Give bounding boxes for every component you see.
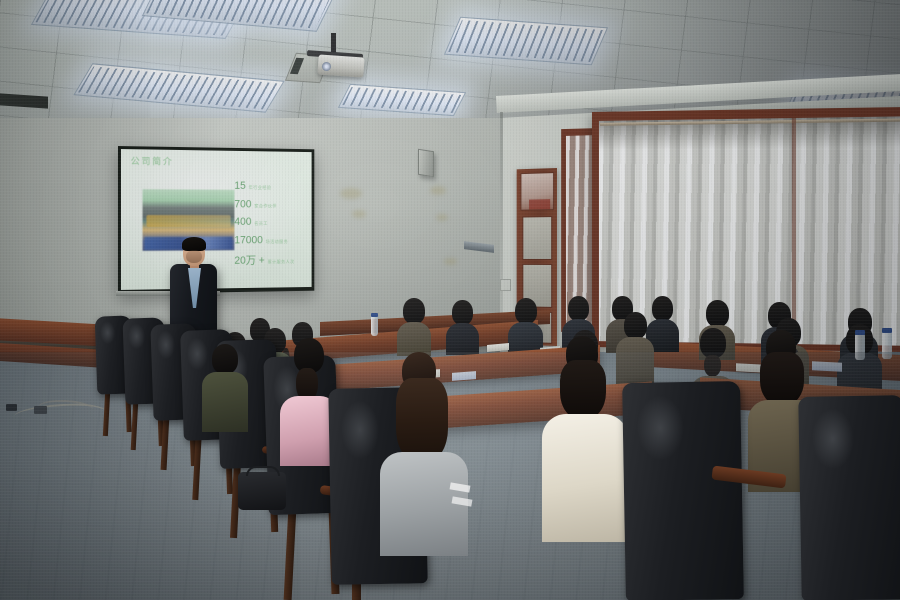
handbag-strap [246,466,280,476]
attendee-hair-long [396,378,448,462]
attendee-torso [380,452,468,556]
slide-stat-row: 400 名员工 [234,216,311,228]
attendee [706,300,729,327]
slide-stat-caption: 累计服务人次 [268,259,295,265]
attendee [624,312,647,339]
slide-stat-row: 700 家合作伙伴 [234,198,311,210]
slide-stat-number: 20万 + [234,252,264,268]
attendee-head [568,296,589,321]
attendee [403,298,425,324]
slide-photo-stage [146,215,230,227]
wall-outlet [500,279,511,291]
attendee-torso [542,414,628,542]
transom-visible-object [529,199,550,209]
empty-chair[interactable] [798,395,900,600]
presenter-hair [182,237,206,251]
bottle-cap [371,313,378,317]
slide-stat-caption: 年行业经验 [249,185,272,191]
slide-title: 公司简介 [131,154,174,167]
conference-room-photo: 公司简介 15 年行业经验 700 家合作伙伴 400 名员工 17000 [0,0,900,600]
slide-stat-caption: 名员工 [254,221,268,227]
attendee-head [212,344,238,374]
attendee [568,296,589,321]
projector-mount [331,33,336,53]
attendee-head [624,312,647,339]
attendee-head [452,300,473,325]
handbag [238,472,286,510]
water-bottle [371,316,378,336]
slide-stat-caption: 场活动服务 [266,239,288,245]
attendee [515,298,537,324]
wall-stain [444,258,457,265]
attendee [652,296,673,321]
window-mullion [792,117,796,343]
attendee [452,300,473,325]
wall-speaker-icon [418,149,434,178]
empty-chair[interactable] [622,381,744,600]
slide-stat-row: 15 年行业经验 [234,180,311,192]
attendee-torso [397,322,431,356]
attendee-head [403,298,425,324]
slide-stat-number: 400 [234,216,251,228]
attendee-head [706,300,729,327]
slide-stat-number: 700 [234,198,251,210]
wall-corner-edge [500,112,503,342]
slide-stat-row: 20万 + 累计服务人次 [234,252,311,268]
wall-stain [436,214,448,221]
slide-stat-row: 17000 场活动服务 [234,234,311,246]
wall-stain [352,210,366,218]
door-transom-window [520,172,554,211]
attendee-hair-long [760,352,804,406]
attendee-torso [446,323,479,355]
slide-statistics-list: 15 年行业经验 700 家合作伙伴 400 名员工 17000 场活动服务 2… [234,180,311,274]
door-panel [522,216,552,260]
bottle-cap [855,330,865,335]
attendee-head [515,298,537,324]
presenter-face [186,250,202,263]
wall-stain [340,188,362,199]
bottle-cap [882,328,892,333]
slide-stat-number: 15 [234,180,245,192]
attendee-hair-long [560,360,606,420]
attendee-head [652,296,673,321]
attendee-torso [202,372,248,432]
slide-stat-number: 17000 [234,234,262,246]
slide-stat-caption: 家合作伙伴 [254,203,277,209]
wall-stain [430,186,446,195]
